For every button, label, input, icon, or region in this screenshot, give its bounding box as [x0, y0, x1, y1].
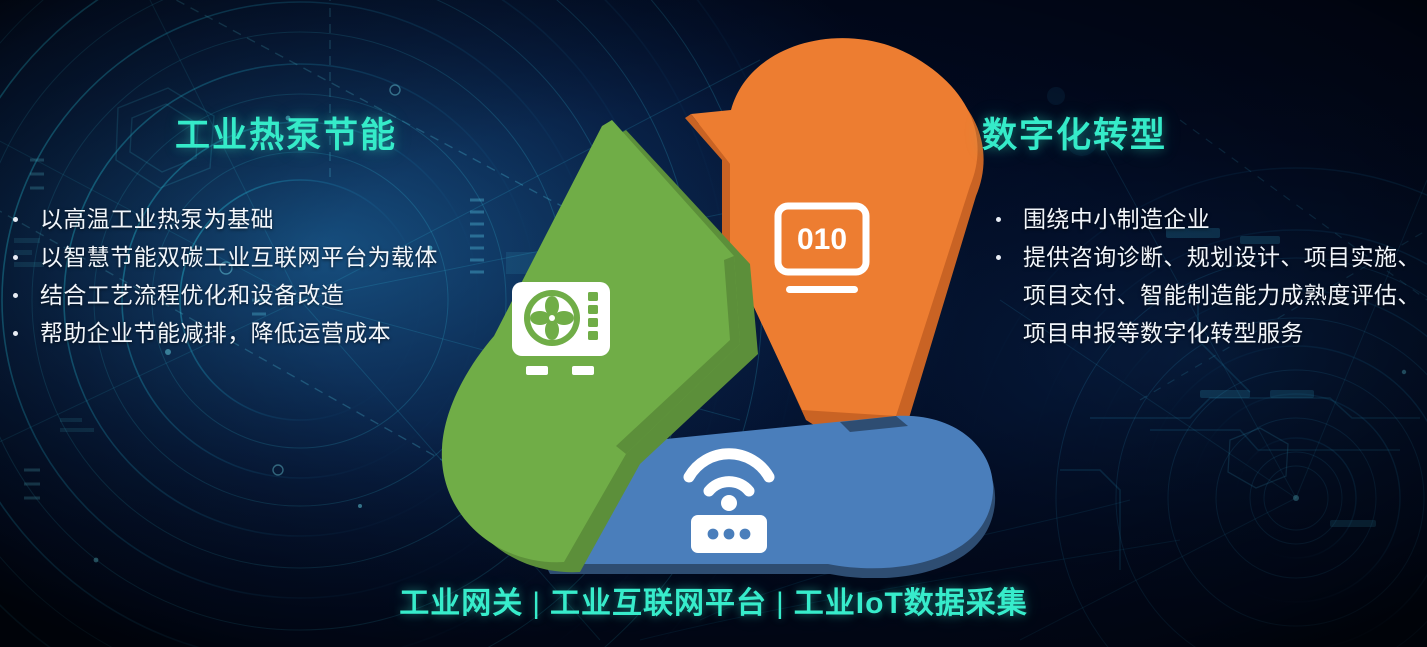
footer-item-gateway: 工业网关: [399, 587, 523, 620]
list-item-text: 提供咨询诊断、规划设计、项目实施、项目交付、智能制造能力成熟度评估、项目申报等数…: [1023, 244, 1421, 346]
footer-item-platform: 工业互联网平台: [550, 587, 767, 620]
list-item: 以高温工业热泵为基础: [0, 200, 462, 238]
right-panel: 数字化转型 围绕中小制造企业 提供咨询诊断、规划设计、项目实施、项目交付、智能制…: [965, 118, 1427, 352]
list-item: 提供咨询诊断、规划设计、项目实施、项目交付、智能制造能力成熟度评估、项目申报等数…: [983, 238, 1427, 352]
bullet-dot-icon: [996, 217, 1001, 222]
bullet-dot-icon: [13, 255, 18, 260]
bullet-dot-icon: [13, 331, 18, 336]
footer-item-iot: 工业IoT数据采集: [794, 587, 1028, 620]
list-item-text: 以高温工业热泵为基础: [40, 206, 274, 232]
list-item-text: 围绕中小制造企业: [1023, 206, 1210, 232]
recycling-triangle-diagram: 010: [430, 18, 1030, 578]
list-item-text: 以智慧节能双碳工业互联网平台为载体: [40, 244, 438, 270]
left-panel-heading: 工业热泵节能: [175, 118, 462, 153]
list-item: 以智慧节能双碳工业互联网平台为载体: [0, 238, 462, 276]
slide-canvas: 010 工业热泵节能 以高温工业热泵为基础: [0, 0, 1427, 647]
list-item-text: 结合工艺流程优化和设备改造: [40, 282, 344, 308]
footer-separator: |: [767, 587, 794, 620]
left-panel-bullet-list: 以高温工业热泵为基础 以智慧节能双碳工业互联网平台为载体 结合工艺流程优化和设备…: [0, 200, 462, 352]
right-panel-bullet-list: 围绕中小制造企业 提供咨询诊断、规划设计、项目实施、项目交付、智能制造能力成熟度…: [983, 200, 1427, 352]
list-item-text: 帮助企业节能减排，降低运营成本: [40, 320, 391, 346]
footer-separator: |: [523, 587, 550, 620]
monitor-binary-text: 010: [797, 223, 847, 256]
bullet-dot-icon: [13, 217, 18, 222]
bullet-dot-icon: [13, 293, 18, 298]
list-item: 结合工艺流程优化和设备改造: [0, 276, 462, 314]
bullet-dot-icon: [996, 255, 1001, 260]
list-item: 帮助企业节能减排，降低运营成本: [0, 314, 462, 352]
left-panel: 工业热泵节能 以高温工业热泵为基础 以智慧节能双碳工业互联网平台为载体 结合工艺…: [0, 118, 462, 352]
right-panel-heading: 数字化转型: [982, 118, 1427, 153]
list-item: 围绕中小制造企业: [983, 200, 1427, 238]
footer-caption: 工业网关|工业互联网平台|工业IoT数据采集: [0, 578, 1427, 622]
